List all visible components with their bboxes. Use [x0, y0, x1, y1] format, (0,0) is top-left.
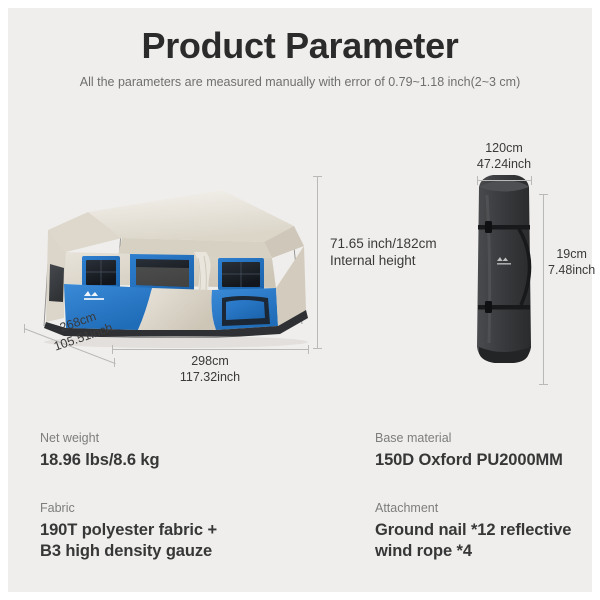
tent-depth-cap-start — [24, 324, 25, 333]
tent-height-cap-top — [313, 176, 322, 177]
spec-value-line1: 18.96 lbs/8.6 kg — [40, 450, 290, 471]
bag-height-cap-bottom — [539, 384, 548, 385]
bag-height-cap-top — [539, 194, 548, 195]
bag-length-cap-left — [477, 176, 478, 185]
header: Product Parameter All the parameters are… — [8, 24, 592, 90]
tent-depth-cap-end — [114, 358, 115, 367]
bag-length-label: 120cm 47.24inch — [454, 140, 554, 172]
tent-width-cap-left — [112, 345, 113, 354]
tent-width-label-line2: 117.32inch — [160, 369, 260, 385]
tent-height-label-line2: Internal height — [330, 252, 437, 269]
spec-value-line1: Ground nail *12 reflective — [375, 520, 600, 541]
tent-roof — [88, 190, 294, 242]
spec-value-line2: wind rope *4 — [375, 541, 600, 562]
spec-net-weight: Net weight 18.96 lbs/8.6 kg — [40, 430, 290, 471]
spec-grid: Net weight 18.96 lbs/8.6 kg Base materia… — [8, 408, 592, 588]
spec-label: Attachment — [375, 500, 600, 517]
spec-label: Fabric — [40, 500, 290, 517]
spec-base-material: Base material 150D Oxford PU2000MM — [375, 430, 600, 471]
tent-width-dimension-line — [112, 349, 308, 350]
bag-height-label: 19cm 7.48inch — [548, 246, 595, 278]
bag-length-dimension-line — [477, 180, 531, 181]
tent-width-label-line1: 298cm — [160, 353, 260, 369]
tent-height-label-line1: 71.65 inch/182cm — [330, 235, 437, 252]
bag-height-dimension-line — [543, 194, 544, 384]
spec-label: Net weight — [40, 430, 290, 447]
page-subtitle: All the parameters are measured manually… — [8, 74, 592, 90]
tent-height-cap-bottom — [313, 348, 322, 349]
bag-length-cap-right — [531, 176, 532, 185]
spec-value-line1: 150D Oxford PU2000MM — [375, 450, 600, 471]
bag-length-label-line2: 47.24inch — [454, 156, 554, 172]
spec-label: Base material — [375, 430, 600, 447]
bag-buckle-upper — [485, 221, 492, 233]
spec-fabric: Fabric 190T polyester fabric + B3 high d… — [40, 500, 290, 562]
infographic-panel: Product Parameter All the parameters are… — [8, 8, 592, 592]
bag-height-label-line2: 7.48inch — [548, 262, 595, 278]
bag-length-label-line1: 120cm — [454, 140, 554, 156]
tent-interior-glimpse — [136, 267, 189, 287]
spec-value-line1: 190T polyester fabric + — [40, 520, 290, 541]
bag-body — [477, 175, 531, 363]
spec-attachment: Attachment Ground nail *12 reflective wi… — [375, 500, 600, 562]
bag-height-label-line1: 19cm — [548, 246, 595, 262]
page-title: Product Parameter — [8, 24, 592, 68]
tent-interior-blue-panel — [226, 300, 265, 320]
tent-height-dimension-line — [317, 176, 318, 348]
tent-height-label: 71.65 inch/182cm Internal height — [330, 235, 437, 269]
tent-width-cap-right — [308, 345, 309, 354]
tent-window-left — [49, 264, 64, 302]
illustration-stage: 71.65 inch/182cm Internal height 298cm 1… — [8, 118, 592, 403]
spec-value-line2: B3 high density gauze — [40, 541, 290, 562]
tent-width-label: 298cm 117.32inch — [160, 353, 260, 385]
bag-buckle-lower — [485, 301, 492, 313]
